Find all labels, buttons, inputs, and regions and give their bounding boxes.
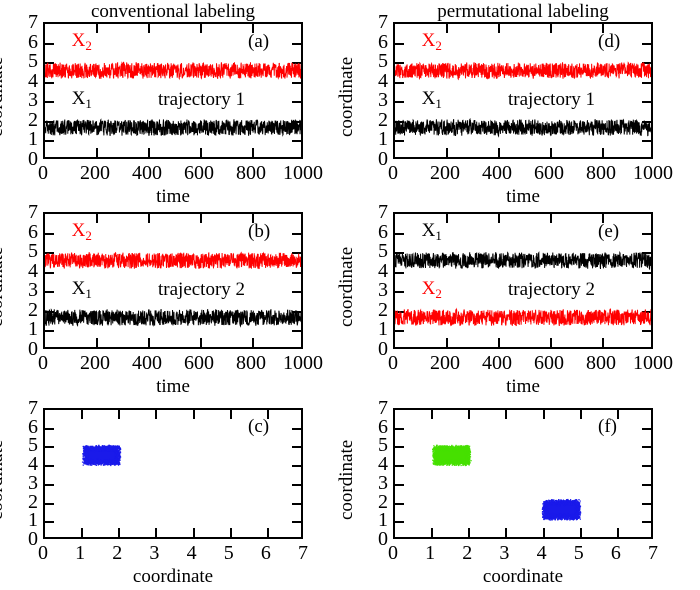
xtick-label-e-400: 400 [467,353,527,373]
ytick-label-b-5: 5 [12,241,38,261]
column-title-conventional: conventional labeling [43,1,303,23]
figure-root: conventional labelingpermutational label… [0,0,700,590]
xtick-label-b-400: 400 [117,353,177,373]
axis-title-x-a: time [43,186,303,208]
ytick-label-b-3: 3 [12,280,38,300]
ytick-label-d-4: 4 [362,71,388,91]
ytick-label-b-6: 6 [12,222,38,242]
panel-subtitle-e: trajectory 2 [508,279,595,301]
column-title-permutational: permutational labeling [393,1,653,23]
xtick-label-d-200: 200 [415,163,475,183]
ytick-label-c-3: 3 [12,473,38,493]
panel-label-b: (b) [248,221,270,243]
xtick-label-a-800: 800 [221,163,281,183]
xtick-label-a-600: 600 [169,163,229,183]
axis-title-x-c: coordinate [43,566,303,588]
cluster-blue-f [542,499,581,521]
axis-title-y-b: coordinate [0,246,8,326]
ytick-label-b-7: 7 [12,202,38,222]
series-x2-a [45,62,301,79]
ytick-label-e-2: 2 [362,300,388,320]
xtick-label-d-600: 600 [519,163,579,183]
xtick-label-d-1000: 1000 [623,163,683,183]
ytick-label-a-3: 3 [12,90,38,110]
ytick-label-a-5: 5 [12,51,38,71]
ytick-label-d-1: 1 [362,129,388,149]
panel-label-c: (c) [248,416,269,438]
series-annotation-x1-e: X1 [422,221,442,240]
xtick-label-e-0: 0 [363,353,423,373]
axis-title-y-f: coordinate [336,439,358,519]
axis-title-y-a: coordinate [0,56,8,136]
series-x1-b [45,309,301,326]
ytick-label-c-1: 1 [12,510,38,530]
xtick-label-e-800: 800 [571,353,631,373]
series-annotation-x2-e: X2 [422,279,442,298]
ytick-label-e-3: 3 [362,280,388,300]
series-annotation-x2-a: X2 [72,31,92,50]
cluster-green-f [432,445,472,466]
ytick-label-c-4: 4 [12,454,38,474]
series-x2-d [395,62,651,79]
xtick-label-a-200: 200 [65,163,125,183]
ytick-label-f-1: 1 [362,510,388,530]
series-x1-e [395,252,651,269]
ytick-label-c-5: 5 [12,435,38,455]
panel-subtitle-b: trajectory 2 [158,279,245,301]
axis-title-y-c: coordinate [0,439,8,519]
axis-title-x-b: time [43,376,303,398]
ytick-label-e-4: 4 [362,261,388,281]
ytick-label-d-6: 6 [362,32,388,52]
xtick-label-e-1000: 1000 [623,353,683,373]
axis-title-y-d: coordinate [336,56,358,136]
series-x2-e [395,309,651,326]
ytick-label-b-4: 4 [12,261,38,281]
ytick-label-c-6: 6 [12,417,38,437]
ytick-label-a-2: 2 [12,110,38,130]
axis-title-x-f: coordinate [393,566,653,588]
ytick-label-f-3: 3 [362,473,388,493]
xtick-label-a-1000: 1000 [273,163,333,183]
xtick-label-a-0: 0 [13,163,73,183]
ytick-label-f-7: 7 [362,398,388,418]
ytick-label-b-2: 2 [12,300,38,320]
panel-label-f: (f) [598,416,617,438]
xtick-label-d-800: 800 [571,163,631,183]
panel-subtitle-a: trajectory 1 [158,89,245,111]
xtick-label-c-7: 7 [273,543,333,563]
xtick-label-e-200: 200 [415,353,475,373]
ytick-label-c-7: 7 [12,398,38,418]
series-annotation-x2-b: X2 [72,221,92,240]
series-annotation-x1-b: X1 [72,279,92,298]
ytick-label-b-1: 1 [12,319,38,339]
xtick-label-f-7: 7 [623,543,683,563]
series-annotation-x1-a: X1 [72,89,92,108]
axis-title-x-e: time [393,376,653,398]
panel-label-d: (d) [598,31,620,53]
xtick-label-b-0: 0 [13,353,73,373]
ytick-label-d-2: 2 [362,110,388,130]
ytick-label-e-1: 1 [362,319,388,339]
xtick-label-d-0: 0 [363,163,423,183]
xtick-label-b-800: 800 [221,353,281,373]
series-annotation-x2-d: X2 [422,31,442,50]
series-x1-a [45,119,301,136]
xtick-label-b-600: 600 [169,353,229,373]
series-annotation-x1-d: X1 [422,89,442,108]
panel-label-e: (e) [598,221,619,243]
ytick-label-d-5: 5 [362,51,388,71]
ytick-label-a-6: 6 [12,32,38,52]
ytick-label-f-4: 4 [362,454,388,474]
ytick-label-f-6: 6 [362,417,388,437]
panel-subtitle-d: trajectory 1 [508,89,595,111]
axis-title-x-d: time [393,186,653,208]
xtick-label-b-200: 200 [65,353,125,373]
cluster-blue-c [82,445,121,466]
series-x1-d [395,119,651,136]
ytick-label-a-7: 7 [12,12,38,32]
xtick-label-e-600: 600 [519,353,579,373]
ytick-label-e-7: 7 [362,202,388,222]
axis-title-y-e: coordinate [336,246,358,326]
ytick-label-e-6: 6 [362,222,388,242]
ytick-label-d-3: 3 [362,90,388,110]
xtick-label-d-400: 400 [467,163,527,183]
series-x2-b [45,252,301,269]
ytick-label-a-1: 1 [12,129,38,149]
ytick-label-a-4: 4 [12,71,38,91]
xtick-label-a-400: 400 [117,163,177,183]
ytick-label-d-7: 7 [362,12,388,32]
ytick-label-c-2: 2 [12,492,38,512]
ytick-label-f-5: 5 [362,435,388,455]
ytick-label-e-5: 5 [362,241,388,261]
panel-label-a: (a) [248,31,269,53]
ytick-label-f-2: 2 [362,492,388,512]
xtick-label-b-1000: 1000 [273,353,333,373]
